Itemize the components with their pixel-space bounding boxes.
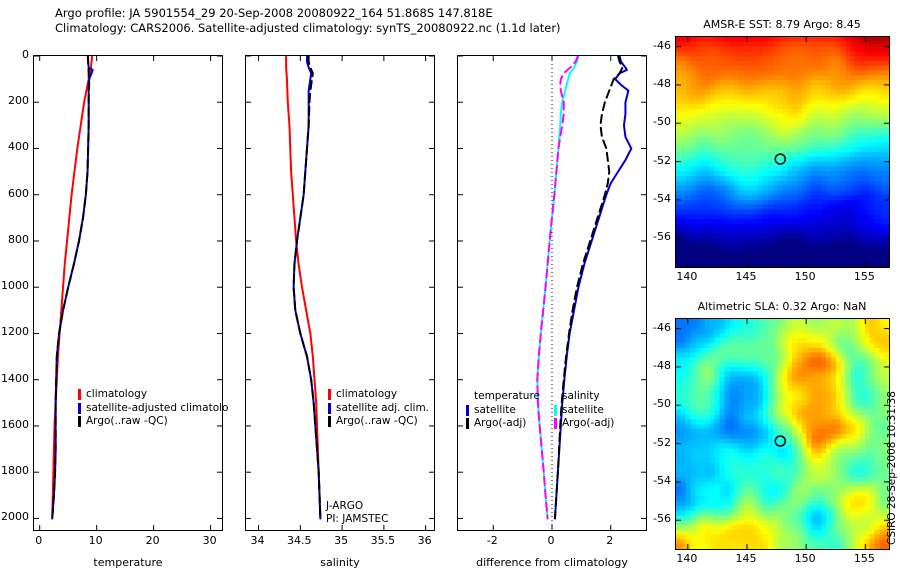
difference-legend-swatch-icon: [554, 405, 557, 416]
series-argo-raw-qc-: [294, 56, 321, 518]
credit-line-1: J-ARGO: [326, 500, 389, 513]
amsre-sst-map-xtick-140: 140: [662, 270, 712, 283]
jargo-credit: J-ARGO PI: JAMSTEC: [326, 500, 389, 526]
temperature-profile-ytick-400: 400: [0, 140, 29, 153]
difference-from-climatology-xtick-0: 0: [521, 534, 581, 547]
difference-legend-swatch-icon: [466, 405, 469, 416]
altimetric-sla-map-xtick-140: 140: [662, 552, 712, 565]
temperature-legend-item-row: Argo(..raw -QC): [78, 415, 228, 429]
difference-legend-salinity-header: salinity: [554, 390, 614, 404]
temperature-legend-item-swatch-icon: [78, 389, 81, 400]
difference-legend-columns: temperaturesatelliteArgo(-adj)salinitysa…: [466, 390, 614, 431]
salinity-legend: climatologysatellite adj. clim.Argo(..ra…: [328, 388, 429, 429]
salinity-legend-item-row: Argo(..raw -QC): [328, 415, 429, 429]
temperature-profile-ytick-1000: 1000: [0, 279, 29, 292]
temperature-profile-ytick-600: 600: [0, 187, 29, 200]
title-line-1: Argo profile: JA 5901554_29 20-Sep-2008 …: [55, 6, 655, 21]
altimetric-sla-map-ytick--56: -56: [635, 512, 671, 525]
difference-legend-item-label: Argo(-adj): [474, 417, 526, 431]
temperature-profile-ytick-1200: 1200: [0, 325, 29, 338]
difference-legend: temperaturesatelliteArgo(-adj)salinitysa…: [466, 390, 614, 431]
series-temperature-satellite: [555, 56, 631, 518]
temperature-axis-label: temperature: [33, 556, 223, 569]
amsre-sst-map-ytick--54: -54: [635, 192, 671, 205]
difference-legend-salinity-column: salinitysatelliteArgo(-adj): [554, 390, 614, 431]
amsre-sst-map-ytick--56: -56: [635, 230, 671, 243]
salinity-axis-label: salinity: [245, 556, 435, 569]
difference-legend-temperature-column: temperaturesatelliteArgo(-adj): [466, 390, 540, 431]
difference-legend-temperature-header: temperature: [466, 390, 540, 404]
difference-from-climatology-plot: [458, 56, 646, 530]
amsre-sst-map-xtick-155: 155: [839, 270, 889, 283]
series-climatology: [52, 56, 92, 518]
figure-title: Argo profile: JA 5901554_29 20-Sep-2008 …: [55, 6, 655, 36]
salinity-legend-item-label: climatology: [336, 388, 397, 402]
amsre-sst-map-ytick--50: -50: [635, 115, 671, 128]
salinity-legend-item-label: Argo(..raw -QC): [336, 415, 418, 429]
amsre-sst-map-ytick--48: -48: [635, 77, 671, 90]
difference-from-climatology-xtick--2: -2: [462, 534, 522, 547]
salinity-profile-plot: [246, 56, 434, 530]
difference-legend-swatch-icon: [554, 418, 557, 429]
temperature-profile-ytick-1800: 1800: [0, 464, 29, 477]
altimetric-sla-map-xtick-145: 145: [721, 552, 771, 565]
temperature-legend-item-label: climatology: [86, 388, 147, 402]
amsre-sst-map-ytick--52: -52: [635, 154, 671, 167]
temperature-legend-item-swatch-icon: [78, 416, 81, 427]
temperature-profile-ytick-2000: 2000: [0, 510, 29, 523]
temperature-profile-ytick-0: 0: [0, 48, 29, 61]
difference-legend-item-row: satellite: [466, 404, 540, 418]
series-argo-raw-qc-: [52, 56, 89, 518]
difference-profile-panel: [457, 55, 647, 531]
temperature-profile-ytick-1600: 1600: [0, 418, 29, 431]
temperature-legend-item-label: Argo(..raw -QC): [86, 415, 168, 429]
salinity-legend-item-swatch-icon: [328, 403, 331, 414]
altimetric-sla-map-ytick--46: -46: [635, 321, 671, 334]
temperature-legend-item-row: satellite-adjusted climatolo: [78, 402, 228, 416]
amsre-sst-map-raster: [676, 37, 889, 267]
title-line-2: Climatology: CARS2006. Satellite-adjuste…: [55, 21, 655, 36]
series-temperature-argo-adj-: [555, 56, 623, 518]
altimetric-sla-map-ytick--48: -48: [635, 359, 671, 372]
amsre-sst-map-panel: [675, 36, 890, 268]
temperature-profile-xtick-20: 20: [123, 534, 183, 547]
amsre-sst-map-xtick-145: 145: [721, 270, 771, 283]
temperature-legend-item-row: climatology: [78, 388, 228, 402]
sst-map-title: AMSR-E SST: 8.79 Argo: 8.45: [672, 18, 892, 31]
altimetric-sla-map-ytick--50: -50: [635, 397, 671, 410]
temperature-profile-xtick-0: 0: [9, 534, 69, 547]
temperature-profile-ytick-1400: 1400: [0, 372, 29, 385]
amsre-sst-map-xtick-150: 150: [780, 270, 830, 283]
csiro-timestamp: CSIRO 28-Sep-2008 10:31:38: [886, 391, 898, 545]
sla-map-title: Altimetric SLA: 0.32 Argo: NaN: [672, 300, 892, 313]
altimetric-sla-map-panel: [675, 318, 890, 550]
credit-line-2: PI: JAMSTEC: [326, 513, 389, 526]
temperature-profile-ytick-800: 800: [0, 233, 29, 246]
salinity-profile-panel: [245, 55, 435, 531]
temperature-legend-item-swatch-icon: [78, 403, 81, 414]
temperature-legend-item-label: satellite-adjusted climatolo: [86, 402, 228, 416]
altimetric-sla-map-raster: [676, 319, 889, 549]
amsre-sst-map-ytick--46: -46: [635, 39, 671, 52]
difference-axis-label: difference from climatology: [457, 556, 647, 569]
altimetric-sla-map-ytick--52: -52: [635, 436, 671, 449]
series-salinity-argo-adj-: [537, 56, 578, 518]
difference-legend-item-label: Argo(-adj): [562, 417, 614, 431]
salinity-legend-item-row: satellite adj. clim.: [328, 402, 429, 416]
altimetric-sla-map-xtick-155: 155: [839, 552, 889, 565]
series-salinity-satellite: [537, 56, 578, 518]
salinity-legend-item-swatch-icon: [328, 416, 331, 427]
salinity-profile-xtick-36: 36: [395, 534, 455, 547]
series-satellite-adjusted-climatology: [52, 56, 92, 518]
salinity-legend-item-row: climatology: [328, 388, 429, 402]
temperature-profile-plot: [34, 56, 222, 530]
difference-legend-swatch-icon: [466, 418, 469, 429]
difference-legend-item-label: satellite: [474, 404, 516, 418]
temperature-profile-ytick-200: 200: [0, 94, 29, 107]
altimetric-sla-map-xtick-150: 150: [780, 552, 830, 565]
salinity-legend-item-swatch-icon: [328, 389, 331, 400]
difference-legend-item-row: Argo(-adj): [466, 417, 540, 431]
altimetric-sla-map-ytick--54: -54: [635, 474, 671, 487]
temperature-profile-xtick-10: 10: [66, 534, 126, 547]
difference-legend-item-row: satellite: [554, 404, 614, 418]
difference-legend-item-label: satellite: [562, 404, 604, 418]
series-climatology: [286, 56, 320, 518]
figure-canvas: Argo profile: JA 5901554_29 20-Sep-2008 …: [0, 0, 900, 580]
difference-legend-item-row: Argo(-adj): [554, 417, 614, 431]
temperature-profile-panel: [33, 55, 223, 531]
temperature-legend: climatologysatellite-adjusted climatoloA…: [78, 388, 228, 429]
difference-from-climatology-xtick-2: 2: [580, 534, 640, 547]
salinity-legend-item-label: satellite adj. clim.: [336, 402, 429, 416]
